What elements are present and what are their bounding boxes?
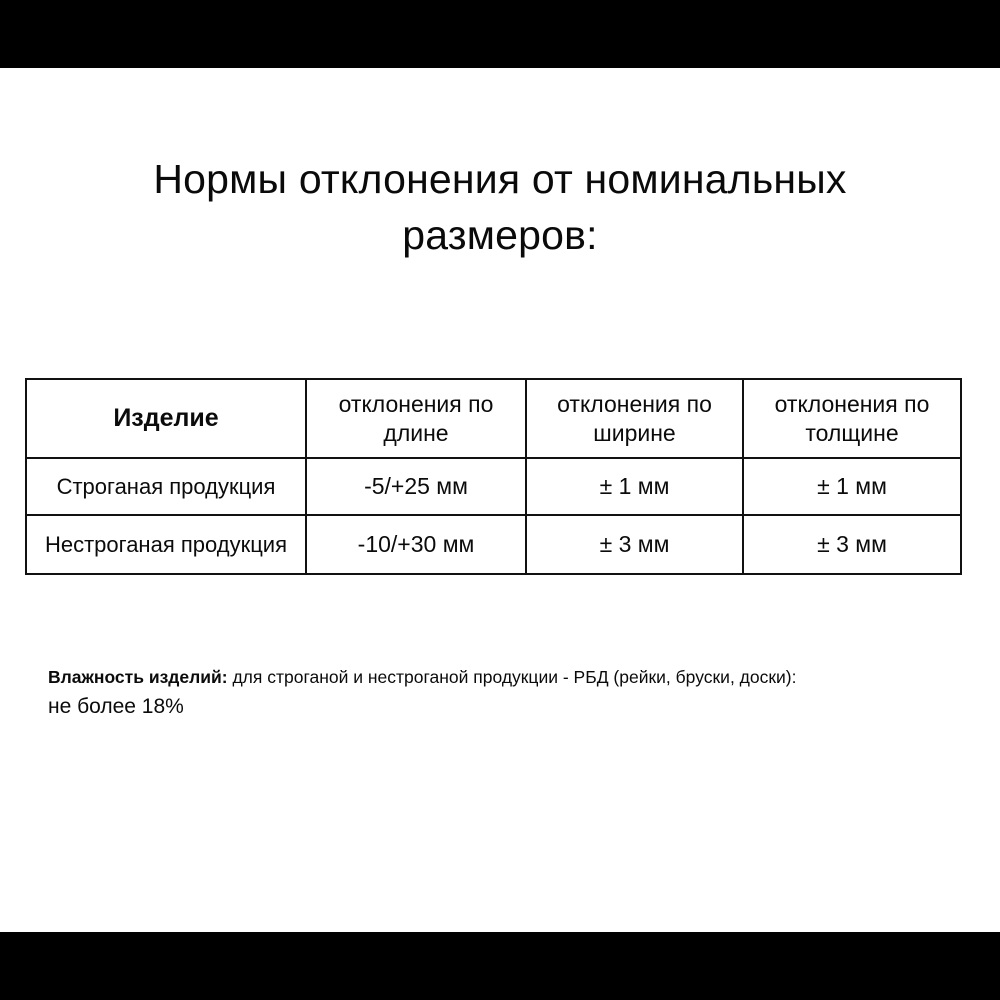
- slide-canvas: Нормы отклонения от номинальных размеров…: [0, 68, 1000, 932]
- footnote: Влажность изделий: для строганой и нестр…: [48, 665, 948, 723]
- column-header-width-line-2: ширине: [593, 420, 675, 446]
- column-header-length: отклонения по длине: [306, 379, 526, 458]
- cell-width-deviation: ± 1 мм: [526, 458, 743, 515]
- column-header-width: отклонения по ширине: [526, 379, 743, 458]
- column-header-thickness-line-1: отклонения по: [775, 391, 930, 417]
- cell-thickness-deviation: ± 3 мм: [743, 515, 961, 574]
- column-header-thickness: отклонения по толщине: [743, 379, 961, 458]
- deviation-norms-table: Изделие отклонения по длине отклонения п…: [25, 378, 962, 575]
- cell-thickness-deviation: ± 1 мм: [743, 458, 961, 515]
- table-row: Строганая продукция -5/+25 мм ± 1 мм ± 1…: [26, 458, 961, 515]
- cell-width-deviation: ± 3 мм: [526, 515, 743, 574]
- column-header-product: Изделие: [26, 379, 306, 458]
- cell-product-name: Нестроганая продукция: [26, 515, 306, 574]
- page-title-line-1: Нормы отклонения от номинальных: [60, 152, 940, 208]
- footnote-line-1: Влажность изделий: для строганой и нестр…: [48, 665, 948, 690]
- column-header-length-line-1: отклонения по: [339, 391, 494, 417]
- cell-product-name: Строганая продукция: [26, 458, 306, 515]
- cell-length-deviation: -10/+30 мм: [306, 515, 526, 574]
- slide-frame: Нормы отклонения от номинальных размеров…: [0, 0, 1000, 1000]
- column-header-thickness-line-2: толщине: [805, 420, 898, 446]
- footnote-line-1-text: для строганой и нестроганой продукции - …: [228, 667, 797, 687]
- letterbox-bottom-bar: [0, 932, 1000, 1000]
- cell-length-deviation: -5/+25 мм: [306, 458, 526, 515]
- table-header-row: Изделие отклонения по длине отклонения п…: [26, 379, 961, 458]
- footnote-label: Влажность изделий:: [48, 667, 228, 687]
- column-header-width-line-1: отклонения по: [557, 391, 712, 417]
- column-header-length-line-2: длине: [383, 420, 448, 446]
- page-title: Нормы отклонения от номинальных размеров…: [60, 152, 940, 264]
- page-title-line-2: размеров:: [60, 208, 940, 264]
- footnote-line-2: не более 18%: [48, 692, 948, 722]
- letterbox-top-bar: [0, 0, 1000, 68]
- table-row: Нестроганая продукция -10/+30 мм ± 3 мм …: [26, 515, 961, 574]
